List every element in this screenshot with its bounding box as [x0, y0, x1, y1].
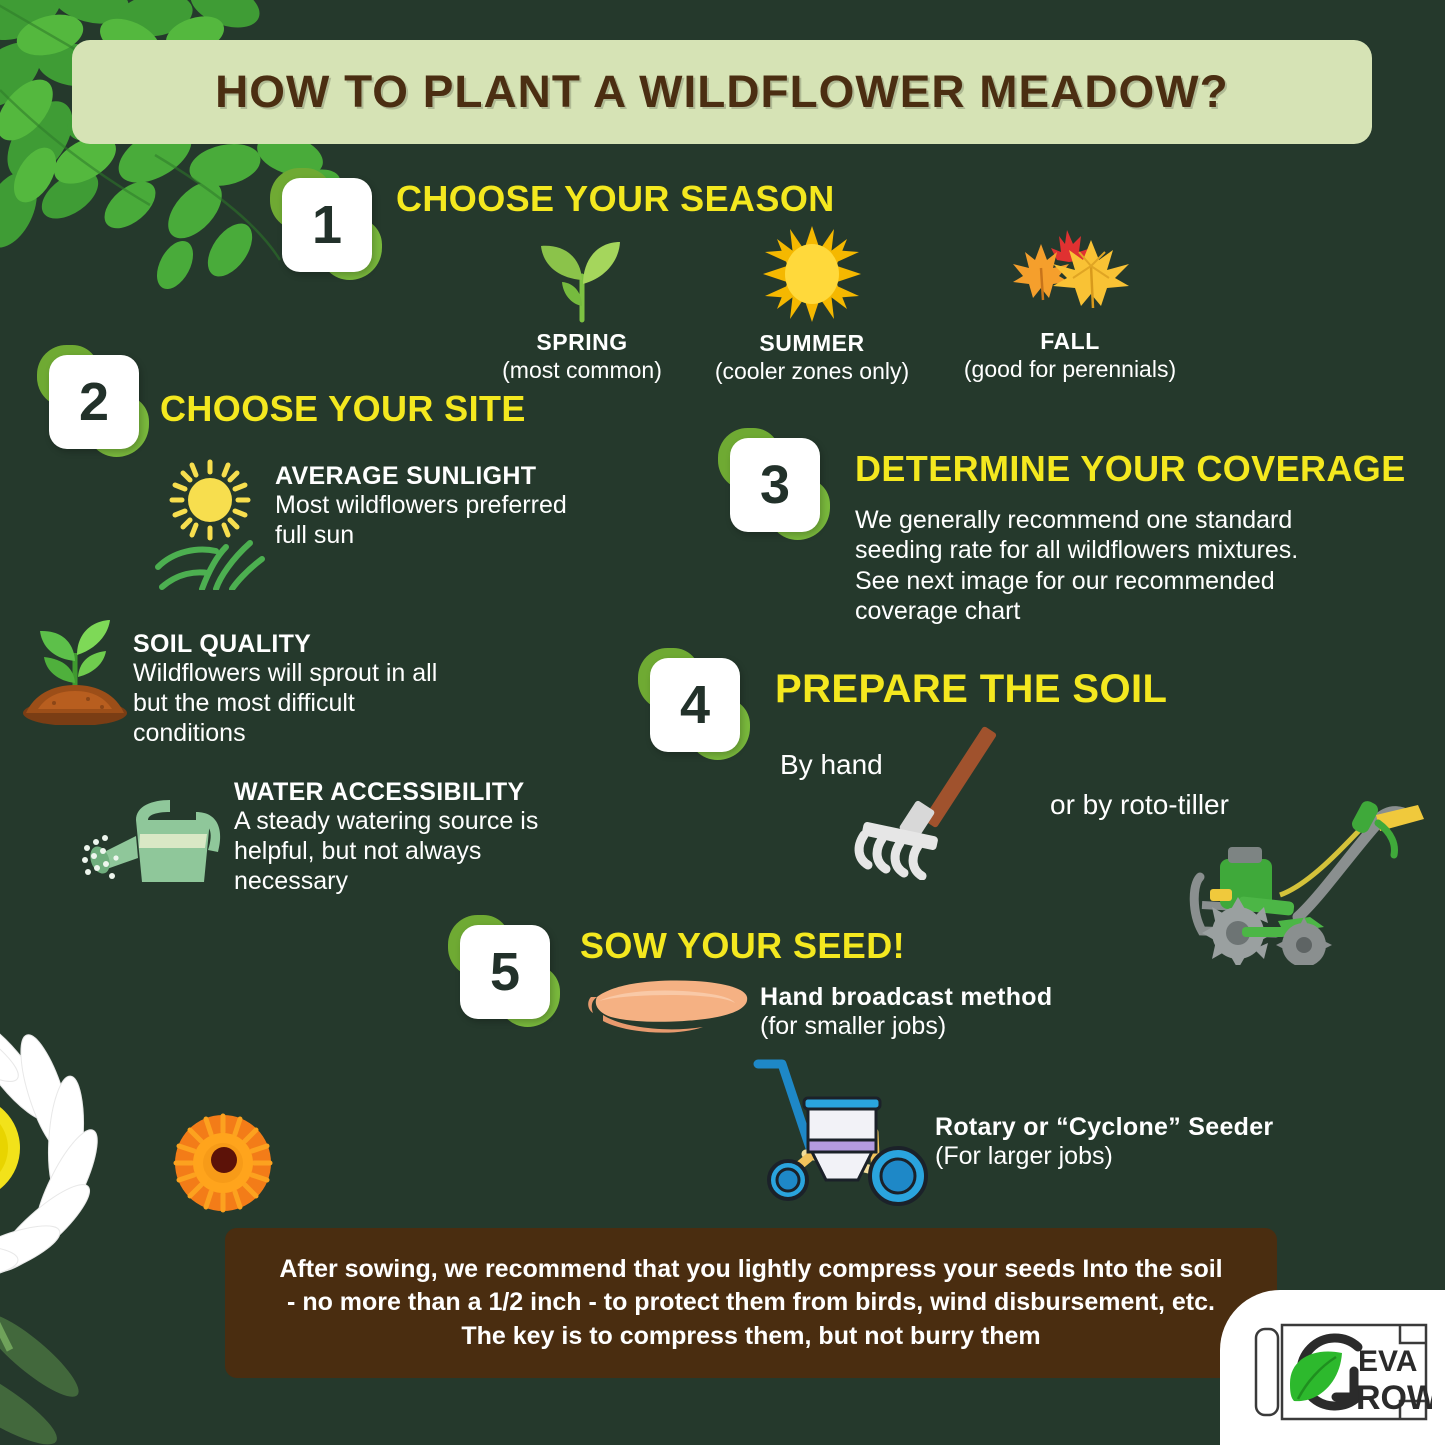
feature-body-line: necessary: [234, 867, 654, 897]
body-line: We generally recommend one standard: [855, 505, 1395, 535]
step-4-heading: PREPARE THE SOIL: [775, 667, 1167, 712]
footer-line: After sowing, we recommend that you ligh…: [279, 1253, 1222, 1287]
season-note: (cooler zones only): [697, 358, 927, 385]
season-name: SUMMER: [697, 330, 927, 357]
season-spring: SPRING (most common): [467, 228, 697, 384]
brand-logo: EVA ROW: [1230, 1295, 1445, 1445]
step-5-heading: SOW YOUR SEED!: [580, 925, 905, 967]
step-4-badge: 4: [638, 648, 750, 760]
footer-line: The key is to compress them, but not bur…: [279, 1320, 1222, 1354]
eva-grow-logo-mark: EVA ROW: [1250, 1313, 1432, 1433]
sun-over-grass-icon: [150, 455, 270, 590]
step-number: 3: [760, 458, 790, 512]
badge-card: 2: [49, 355, 139, 449]
seedling-icon: [527, 228, 637, 323]
feature-body-line: but the most difficult: [133, 689, 553, 719]
logo-text-row: ROW: [1356, 1379, 1432, 1417]
method-note: (for smaller jobs): [760, 1012, 1160, 1042]
season-fall: FALL (good for perennials): [955, 222, 1185, 383]
roto-tiller-icon: [1180, 785, 1445, 965]
season-summer: SUMMER (cooler zones only): [697, 224, 927, 385]
open-hand-icon: [585, 975, 755, 1040]
step-number: 4: [680, 678, 710, 732]
season-note: (most common): [467, 357, 697, 384]
season-note: (good for perennials): [955, 356, 1185, 383]
badge-card: 1: [282, 178, 372, 272]
feature-body-line: A steady watering source is: [234, 807, 654, 837]
badge-card: 4: [650, 658, 740, 752]
step-number: 5: [490, 945, 520, 999]
badge-card: 3: [730, 438, 820, 532]
feature-body-line: helpful, but not always: [234, 837, 654, 867]
sun-icon: [757, 224, 867, 324]
rotary-seeder-icon: [748, 1058, 938, 1210]
badge-card: 5: [460, 925, 550, 1019]
logo-text-eva: EVA: [1358, 1345, 1417, 1378]
feature-title: AVERAGE SUNLIGHT: [275, 462, 695, 491]
body-line: See next image for our recommended: [855, 566, 1395, 596]
season-name: SPRING: [467, 329, 697, 356]
footer-note-box: After sowing, we recommend that you ligh…: [225, 1228, 1277, 1378]
seedling-in-soil-icon: [18, 615, 133, 725]
feature-water-accessibility: WATER ACCESSIBILITY A steady watering so…: [234, 778, 654, 896]
step-number: 1: [312, 198, 342, 252]
step-2-badge: 2: [37, 345, 149, 457]
method-note: (For larger jobs): [935, 1142, 1355, 1172]
page-title: HOW TO PLANT A WILDFLOWER MEADOW?: [215, 66, 1229, 118]
feature-body-line: Most wildflowers preferred: [275, 491, 695, 521]
footer-note-text: After sowing, we recommend that you ligh…: [259, 1253, 1242, 1354]
step-number: 2: [79, 375, 109, 429]
step-1-badge: 1: [270, 168, 382, 280]
feature-body-line: conditions: [133, 719, 553, 749]
step-2-heading: CHOOSE YOUR SITE: [160, 388, 526, 430]
feature-average-sunlight: AVERAGE SUNLIGHT Most wildflowers prefer…: [275, 462, 695, 551]
body-line: seeding rate for all wildflowers mixture…: [855, 535, 1395, 565]
method-title: Rotary or “Cyclone” Seeder: [935, 1113, 1355, 1142]
body-line: coverage chart: [855, 596, 1395, 626]
maple-leaves-icon: [995, 222, 1145, 322]
watering-can-icon: [78, 790, 228, 895]
feature-title: SOIL QUALITY: [133, 630, 553, 659]
infographic-page: HOW TO PLANT A WILDFLOWER MEADOW? 1 CHOO…: [0, 0, 1445, 1445]
step-1-heading: CHOOSE YOUR SEASON: [396, 178, 835, 220]
step-5-badge: 5: [448, 915, 560, 1027]
method-title: Hand broadcast method: [760, 983, 1160, 1012]
garden-rake-icon: [840, 725, 1030, 880]
feature-body-line: full sun: [275, 521, 695, 551]
step-3-body: We generally recommend one standard seed…: [855, 505, 1395, 626]
method-hand-broadcast: Hand broadcast method (for smaller jobs): [760, 983, 1160, 1042]
method-rotary-seeder: Rotary or “Cyclone” Seeder (For larger j…: [935, 1113, 1355, 1172]
feature-title: WATER ACCESSIBILITY: [234, 778, 654, 807]
step-3-badge: 3: [718, 428, 830, 540]
step-3-heading: DETERMINE YOUR COVERAGE: [855, 448, 1406, 490]
feature-soil-quality: SOIL QUALITY Wildflowers will sprout in …: [133, 630, 553, 748]
calendula-flower-decoration: [168, 1108, 278, 1218]
feature-body-line: Wildflowers will sprout in all: [133, 659, 553, 689]
footer-line: - no more than a 1/2 inch - to protect t…: [279, 1286, 1222, 1320]
page-title-banner: HOW TO PLANT A WILDFLOWER MEADOW?: [72, 40, 1372, 144]
season-name: FALL: [955, 328, 1185, 355]
